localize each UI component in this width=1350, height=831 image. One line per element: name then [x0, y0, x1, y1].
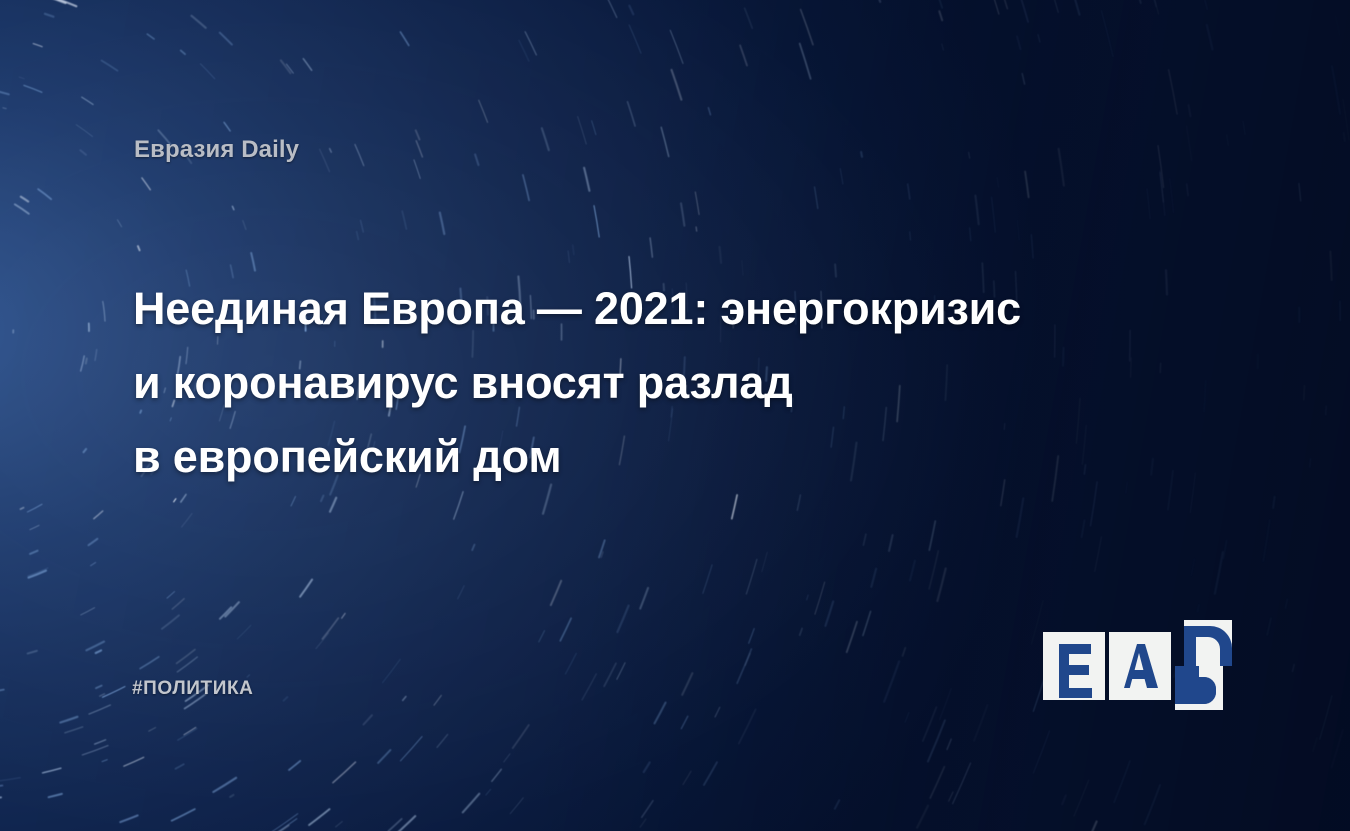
headline-line-3: в европейский дом [133, 420, 1223, 494]
topic-hashtag[interactable]: #ПОЛИТИКА [132, 678, 254, 700]
ead-logo[interactable] [1043, 620, 1233, 710]
logo-tile-d [1175, 620, 1232, 710]
social-share-card: Евразия Daily Неединая Европа — 2021: эн… [0, 0, 1350, 831]
headline-line-2: и коронавирус вносят разлад [133, 346, 1223, 420]
site-logo[interactable]: Евразия Daily [134, 136, 299, 164]
logo-tile-e [1043, 632, 1105, 700]
logo-tile-a [1109, 632, 1171, 700]
headline: Неединая Европа — 2021: энергокризис и к… [133, 272, 1223, 494]
card-content: Евразия Daily Неединая Европа — 2021: эн… [0, 0, 1350, 831]
headline-line-1: Неединая Европа — 2021: энергокризис [133, 272, 1223, 346]
